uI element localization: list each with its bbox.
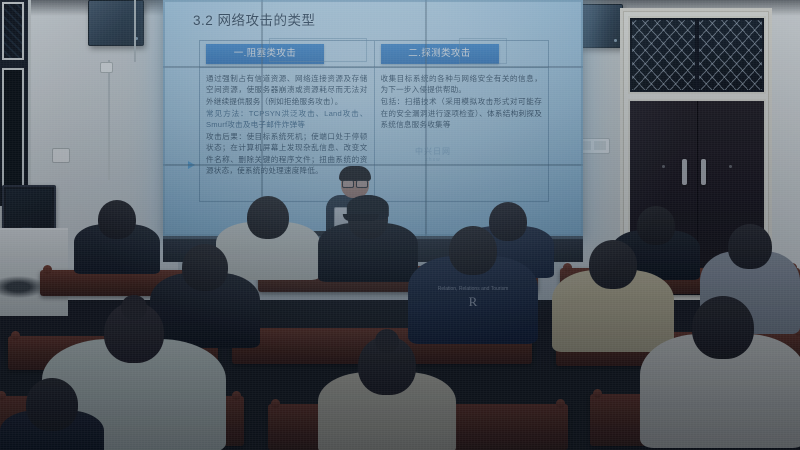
person-head — [637, 206, 675, 245]
presenter-hair — [339, 166, 371, 181]
wall-cable-lower — [108, 60, 110, 180]
attendee-blue-hoodie-r-logo: Relation, Relations and TourismR — [408, 226, 538, 344]
bench-knob — [556, 399, 565, 408]
person-head — [589, 240, 637, 289]
shirt-logo-mark: R — [469, 294, 478, 310]
classroom-door-left[interactable] — [0, 0, 31, 206]
shirt-logo-text: Relation, Relations and Tourism — [438, 286, 509, 292]
presenter-glasses-icon — [342, 180, 368, 186]
column-body-blocking: 通过强制占有信道资源、网络连接资源及存储空间资源，使服务器崩溃或资源耗尽而无法对… — [206, 73, 368, 177]
probing-para-2: 包括：扫描技术（采用模拟攻击形式对可能存在的安全漏洞进行逐项检查）、体系结构刺探… — [381, 96, 543, 130]
watermark-text: 中兴日网 — [415, 147, 451, 156]
person-head — [182, 244, 228, 291]
person-head — [449, 226, 497, 275]
slide-column-probing: 二.探测类攻击 收集目标系统的各种与网络安全有关的信息，为下一步入侵提供帮助。 … — [375, 41, 549, 201]
transom-pane-right — [699, 20, 762, 90]
audience-area: Relation, Relations and TourismR — [0, 196, 800, 450]
slide-watermark: 中兴日网 zhxw — [415, 146, 451, 163]
attendee-black-cap — [318, 198, 418, 282]
attendee-dark-hair-left — [0, 378, 104, 450]
door-handle-right[interactable] — [701, 159, 706, 185]
probing-para-1: 收集目标系统的各种与网络安全有关的信息，为下一步入侵提供帮助。 — [381, 73, 543, 96]
bench-knob — [593, 389, 602, 398]
bench-knob — [232, 391, 241, 400]
slide-placeholder-box-left — [269, 38, 367, 62]
lecture-hall-screenshot: 3.2 网络攻击的类型 一.阻塞类攻击 通过强制占有信道资源、网络连接资源及存储… — [0, 0, 800, 450]
bench-knob — [271, 399, 280, 408]
person-head — [247, 196, 289, 239]
person-head — [692, 296, 754, 359]
door-handle-left[interactable] — [682, 159, 687, 185]
slide-placeholder-box-right — [459, 38, 507, 64]
attendee-grey-sweater-long-hair — [640, 296, 800, 448]
bench-knob — [11, 331, 20, 340]
door-left-upper-pane — [2, 2, 24, 60]
bench-knob — [43, 265, 52, 274]
videowall-seam-h2 — [163, 164, 583, 166]
door-transom-window — [628, 16, 766, 94]
door-left-lower-pane — [2, 68, 24, 198]
blocking-para-1: 通过强制占有信道资源、网络连接资源及存储空间资源，使服务器崩溃或资源耗尽而无法对… — [206, 73, 368, 107]
attendee-bun-clip — [318, 336, 456, 450]
person-head — [26, 378, 78, 431]
wall-cable-upper — [134, 0, 136, 62]
hair-bun — [121, 295, 146, 320]
wall-speaker-right-icon — [578, 4, 623, 48]
watermark-subtext: zhxw — [415, 157, 451, 163]
attendee-far-left-dark — [74, 200, 160, 274]
blocking-para-2: 常见方法：TCPSYN洪泛攻击、Land攻击、Smurf攻击及电子邮件炸弹等 — [206, 108, 368, 131]
slide-title: 3.2 网络攻击的类型 — [193, 9, 316, 29]
wall-outlet-upper[interactable] — [100, 62, 113, 73]
person-head — [728, 224, 772, 269]
videowall-seam-h1 — [163, 66, 583, 68]
person-head — [98, 200, 136, 239]
column-body-probing: 收集目标系统的各种与网络安全有关的信息，为下一步入侵提供帮助。 包括：扫描技术（… — [381, 73, 543, 131]
transom-pane-left — [632, 20, 695, 90]
wall-outlet-lower[interactable] — [52, 148, 70, 163]
baseball-cap — [347, 195, 389, 220]
